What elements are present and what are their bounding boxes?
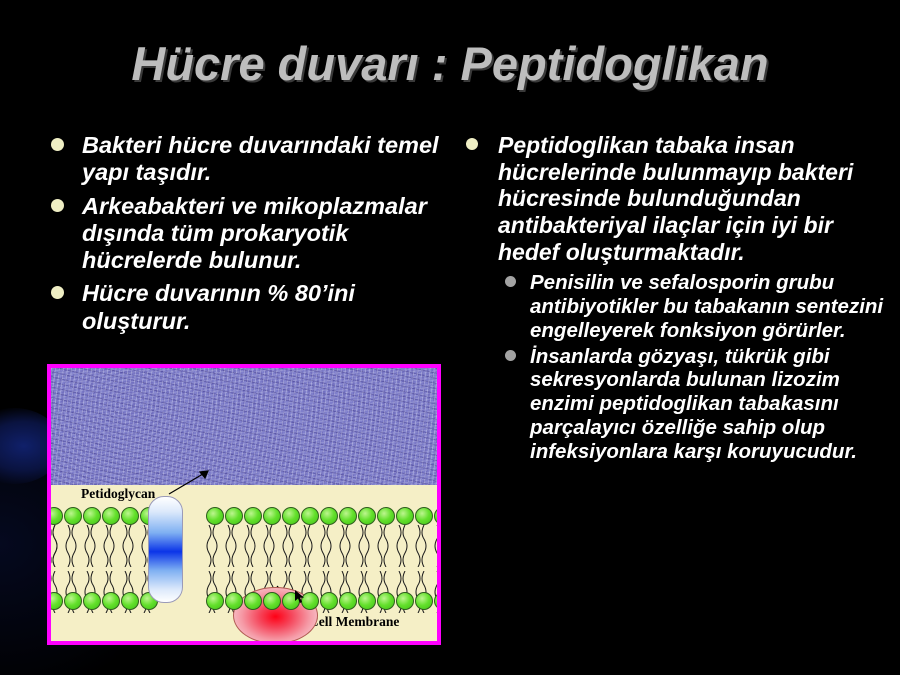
right-content-column: Peptidoglikan tabaka insan hücrelerinde … <box>458 132 888 469</box>
phospholipid-head-row-bottom <box>47 592 441 611</box>
phospholipid-head <box>377 507 395 525</box>
sub-list-item: İnsanlarda gözyaşı, tükrük gibi sekresyo… <box>498 345 888 464</box>
phospholipid-head <box>396 592 414 610</box>
membrane-protein-channel <box>148 496 183 603</box>
phospholipid-head <box>339 592 357 610</box>
bullet-marker-icon <box>51 286 64 299</box>
phospholipid-head <box>396 507 414 525</box>
phospholipid-head <box>320 507 338 525</box>
bullet-marker-icon <box>51 199 64 212</box>
phospholipid-head <box>377 592 395 610</box>
sub-bullet-text: İnsanlarda gözyaşı, tükrük gibi sekresyo… <box>530 345 857 463</box>
phospholipid-head <box>225 507 243 525</box>
phospholipid-head <box>102 592 120 610</box>
phospholipid-head <box>434 507 441 525</box>
sub-list-item: Penisilin ve sefalosporin grubu antibiyo… <box>498 271 888 342</box>
phospholipid-head <box>121 592 139 610</box>
phospholipid-head <box>415 507 433 525</box>
phospholipid-head <box>121 507 139 525</box>
cell-membrane-label: Cell Membrane <box>309 614 399 630</box>
peptidoglycan-label: Petidoglycan <box>81 486 155 502</box>
diagram-canvas: Petidoglycan Cell Membrane <box>51 368 437 641</box>
phospholipid-head <box>83 507 101 525</box>
right-bullet-list: Peptidoglikan tabaka insan hücrelerinde … <box>458 132 888 463</box>
bullet-text: Bakteri hücre duvarındaki temel yapı taş… <box>82 132 439 185</box>
sub-bullet-marker-icon <box>505 350 516 361</box>
list-item: Arkeabakteri ve mikoplazmalar dışında tü… <box>42 193 446 275</box>
phospholipid-head <box>206 507 224 525</box>
bullet-text: Peptidoglikan tabaka insan hücrelerinde … <box>498 132 853 265</box>
phospholipid-head <box>358 507 376 525</box>
phospholipid-head <box>263 507 281 525</box>
phospholipid-head <box>263 592 281 610</box>
phospholipid-head <box>225 592 243 610</box>
phospholipid-head <box>282 507 300 525</box>
bullet-marker-icon <box>51 138 64 151</box>
phospholipid-head <box>206 592 224 610</box>
cell-wall-diagram-image: Petidoglycan Cell Membrane <box>47 364 441 645</box>
phospholipid-head <box>47 592 63 610</box>
phospholipid-head <box>358 592 376 610</box>
phospholipid-head <box>301 507 319 525</box>
phospholipid-head <box>244 507 262 525</box>
left-bullet-list: Bakteri hücre duvarındaki temel yapı taş… <box>42 132 446 335</box>
mouse-cursor-icon <box>295 590 305 604</box>
left-content-column: Bakteri hücre duvarındaki temel yapı taş… <box>42 132 446 341</box>
sub-bullet-marker-icon <box>505 276 516 287</box>
page-title: Hücre duvarı : Peptidoglikan <box>0 36 900 91</box>
slide: Hücre duvarı : Peptidoglikan Bakteri hüc… <box>0 0 900 675</box>
phospholipid-head <box>339 507 357 525</box>
phospholipid-tails-top <box>47 525 441 567</box>
list-item: Hücre duvarının % 80’ini oluşturur. <box>42 280 446 335</box>
phospholipid-head <box>102 507 120 525</box>
phospholipid-head <box>47 507 63 525</box>
phospholipid-head <box>434 592 441 610</box>
bullet-marker-icon <box>466 138 478 150</box>
sub-bullet-text: Penisilin ve sefalosporin grubu antibiyo… <box>530 271 883 342</box>
phospholipid-head <box>320 592 338 610</box>
phospholipid-head <box>64 507 82 525</box>
phospholipid-head <box>415 592 433 610</box>
right-sub-bullet-list: Penisilin ve sefalosporin grubu antibiyo… <box>498 271 888 463</box>
phospholipid-head <box>83 592 101 610</box>
bullet-text: Hücre duvarının % 80’ini oluşturur. <box>82 280 355 333</box>
phospholipid-head <box>244 592 262 610</box>
phospholipid-head-row-top <box>47 507 441 526</box>
bullet-text: Arkeabakteri ve mikoplazmalar dışında tü… <box>82 193 427 274</box>
phospholipid-head <box>64 592 82 610</box>
list-item: Bakteri hücre duvarındaki temel yapı taş… <box>42 132 446 187</box>
list-item: Peptidoglikan tabaka insan hücrelerinde … <box>458 132 888 463</box>
